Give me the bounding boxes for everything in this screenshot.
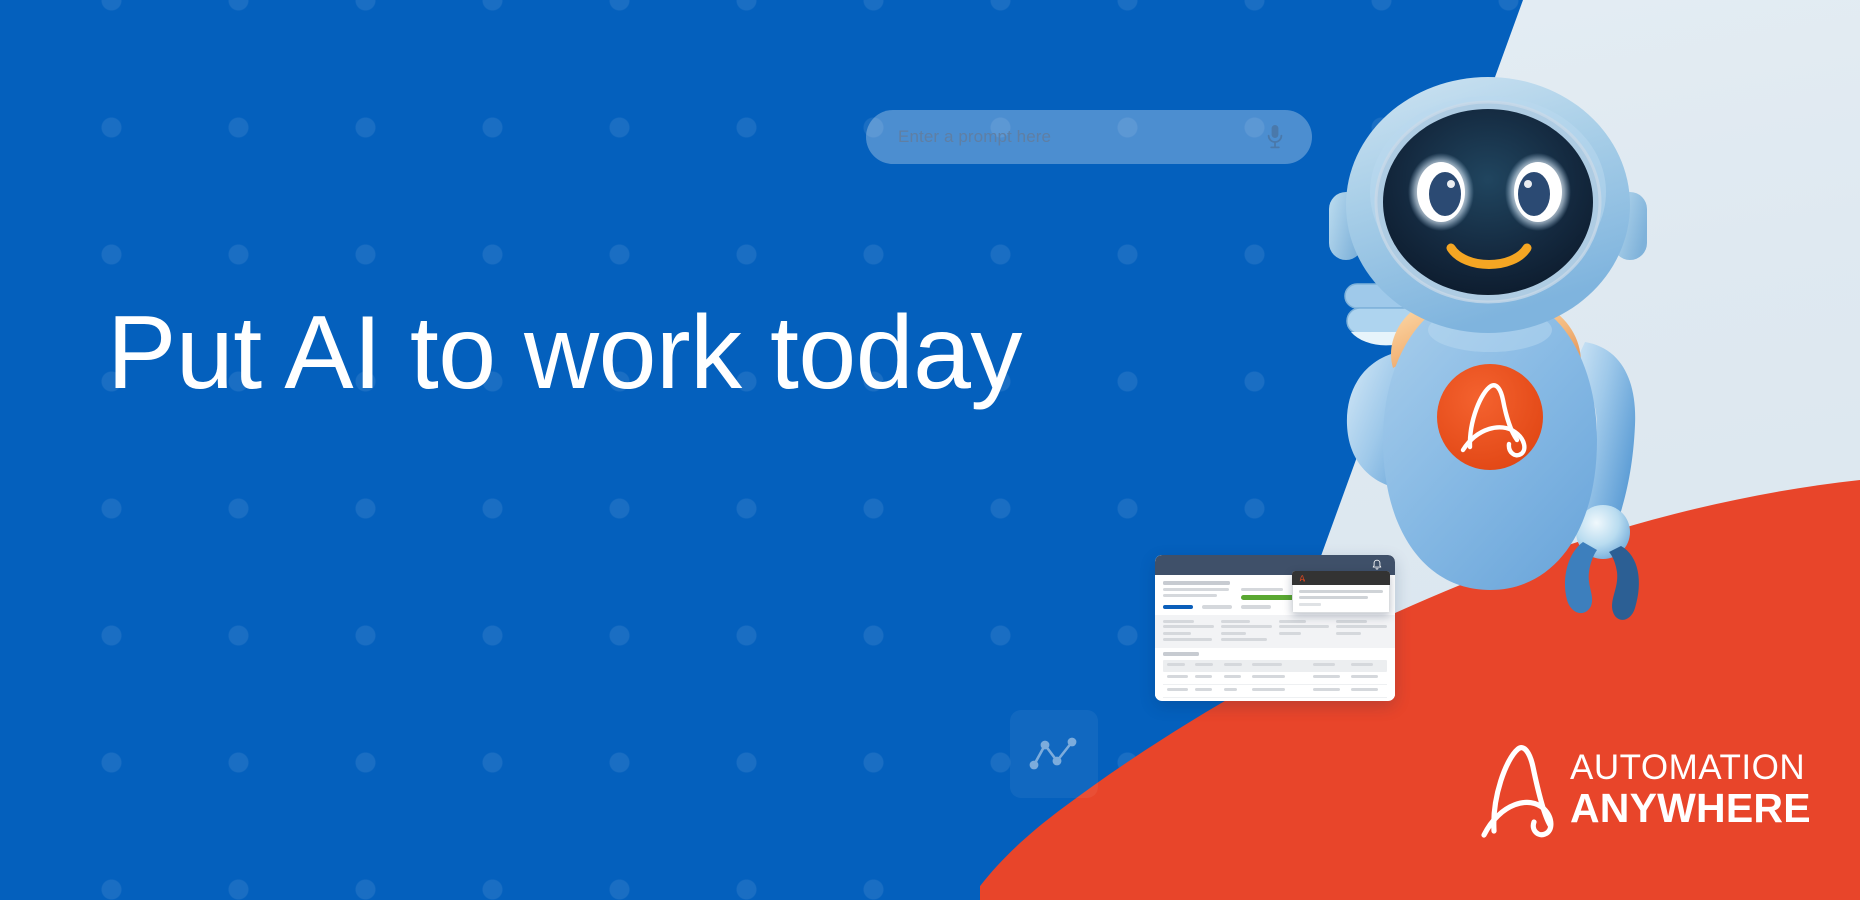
prompt-placeholder-text: Enter a prompt here — [898, 127, 1051, 147]
line-chart-icon-tile[interactable] — [1010, 710, 1098, 798]
notification-footer — [1299, 603, 1321, 606]
aa-robot-mascot — [1225, 80, 1695, 590]
aa-a-mark-icon — [1474, 739, 1556, 839]
table-header-row — [1163, 660, 1387, 672]
table-row — [1163, 685, 1387, 698]
notification-header — [1292, 571, 1390, 585]
logo-line-2: ANYWHERE — [1570, 788, 1811, 829]
hero-banner: Put AI to work today Enter a prompt here — [0, 0, 1860, 900]
dashboard-mockup — [1155, 555, 1395, 701]
dashboard-stats-grid — [1155, 615, 1395, 649]
dashboard-table — [1155, 648, 1395, 698]
dashboard-title-bar — [1163, 581, 1230, 585]
logo-line-1: AUTOMATION — [1570, 750, 1811, 785]
logo-wordmark: AUTOMATION ANYWHERE — [1570, 750, 1811, 829]
table-row — [1163, 672, 1387, 685]
aa-a-mark-icon — [1298, 574, 1306, 582]
automation-anywhere-logo: AUTOMATION ANYWHERE — [1474, 734, 1804, 844]
stat-card — [1221, 620, 1272, 644]
tab-2[interactable] — [1202, 605, 1232, 609]
page-title: Put AI to work today — [107, 296, 1022, 410]
tab-3[interactable] — [1241, 605, 1271, 609]
tab-active[interactable] — [1163, 605, 1193, 609]
table-caption — [1163, 652, 1199, 656]
stat-card — [1336, 620, 1387, 644]
stat-card — [1279, 620, 1330, 644]
notification-popup — [1292, 571, 1390, 613]
robot-chest-badge — [1437, 364, 1543, 470]
bell-icon[interactable] — [1371, 559, 1383, 571]
notification-body — [1292, 585, 1390, 613]
line-chart-icon — [1028, 733, 1080, 775]
stat-card — [1163, 620, 1214, 644]
